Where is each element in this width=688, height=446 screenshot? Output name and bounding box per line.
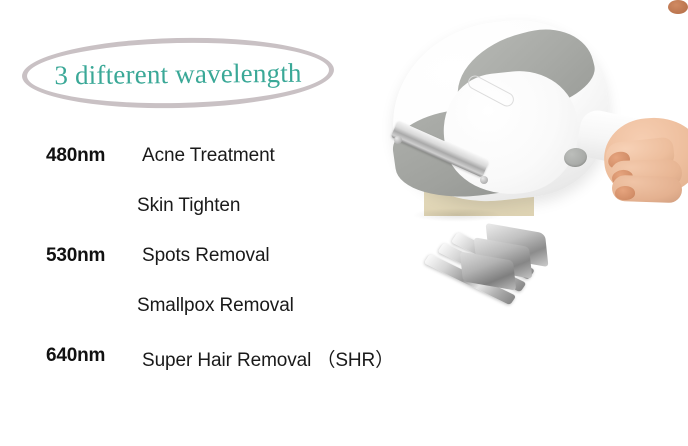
device-photo bbox=[372, 0, 688, 400]
treatment-label: Super Hair Removal （SHR） bbox=[142, 345, 394, 372]
wavelength-value: 530nm bbox=[46, 245, 105, 267]
treatment-head-screw bbox=[394, 136, 402, 144]
title-block: 3 difterent wavelength bbox=[22, 38, 334, 108]
list-item: 640nm Super Hair Removal （SHR） bbox=[0, 340, 420, 390]
treatment-label: Spots Removal bbox=[142, 245, 270, 267]
fingernail bbox=[615, 186, 635, 201]
product-info-banner: 3 difterent wavelength 480nm Acne Treatm… bbox=[0, 0, 688, 446]
drop-shadow bbox=[412, 208, 502, 222]
treatment-label: Skin Tighten bbox=[137, 195, 240, 217]
list-item: 530nm Spots Removal bbox=[0, 240, 420, 290]
treatment-label: Acne Treatment bbox=[142, 145, 275, 167]
wavelength-spec-list: 480nm Acne Treatment Skin Tighten 530nm … bbox=[0, 140, 420, 390]
list-item: Skin Tighten bbox=[0, 190, 420, 240]
list-item: 480nm Acne Treatment bbox=[0, 140, 420, 190]
wavelength-value: 480nm bbox=[46, 145, 105, 167]
list-item: Smallpox Removal bbox=[0, 290, 420, 340]
treatment-head-screw bbox=[480, 176, 488, 184]
wavelength-value: 640nm bbox=[46, 345, 105, 367]
page-title: 3 difterent wavelength bbox=[22, 37, 335, 110]
thumbnail-tip bbox=[668, 0, 688, 14]
treatment-label: Smallpox Removal bbox=[137, 295, 294, 317]
